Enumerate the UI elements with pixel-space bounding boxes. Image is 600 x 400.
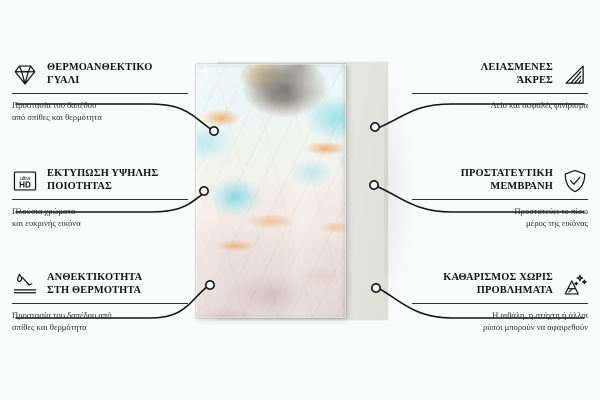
feature-title: ΚΑΘΑΡΙΣΜΟΣ ΧΩΡΙΣ ΠΡΟΒΛΗΜΑΤΑ xyxy=(412,272,553,298)
svg-text:HD: HD xyxy=(19,181,31,190)
feature-title: ΘΕΡΜΟΑΝΘΕΚΤΙΚΟ ΓΥΑΛΙ xyxy=(47,62,188,88)
divider xyxy=(412,303,588,304)
feature-title: ΛΕΙΑΣΜΕΝΕΣ ΆΚΡΕΣ xyxy=(412,62,553,88)
shield-check-icon xyxy=(562,168,588,194)
infographic-canvas: ΘΕΡΜΟΑΝΘΕΚΤΙΚΟ ΓΥΑΛΙ Προστασία του δαπέδ… xyxy=(0,0,600,400)
divider xyxy=(12,303,188,304)
feature-title: ΑΝΘΕΚΤΙΚΟΤΗΤΑ ΣΤΗ ΘΕΡΜΟΤΗΤΑ xyxy=(47,272,188,298)
feature-high-quality-print: ultra HD ΕΚΤΥΠΩΣΗ ΥΨΗΛΗΣ ΠΟΙΟΤΗΤΑΣ Πλούσ… xyxy=(12,168,188,230)
feature-description: Λείο και ασφαλές φινίρισμα xyxy=(412,99,588,111)
feature-description: Προστασία του δαπέδου από σπίθες και θερ… xyxy=(12,99,188,124)
feature-description: Προστασία του δαπέδου από σπίθες και θερ… xyxy=(12,309,188,334)
divider xyxy=(412,199,588,200)
product-glass-panel xyxy=(196,64,346,318)
feature-description: Η αιθάλη, η στάχτη ή άλλοι ρύποι μπορούν… xyxy=(412,309,588,334)
feature-title: ΕΚΤΥΠΩΣΗ ΥΨΗΛΗΣ ΠΟΙΟΤΗΤΑΣ xyxy=(47,168,188,194)
ultra-hd-icon: ultra HD xyxy=(12,168,38,194)
polished-edges-icon xyxy=(562,62,588,88)
diamond-icon xyxy=(12,62,38,88)
feature-polished-edges: ΛΕΙΑΣΜΕΝΕΣ ΆΚΡΕΣ Λείο και ασφαλές φινίρι… xyxy=(412,62,588,111)
divider xyxy=(12,93,188,94)
feature-heat-resistant-glass: ΘΕΡΜΟΑΝΘΕΚΤΙΚΟ ΓΥΑΛΙ Προστασία του δαπέδ… xyxy=(12,62,188,124)
feature-description: Πλούσια χρώματα και ευκρινής εικόνα xyxy=(12,205,188,230)
feature-protective-membrane: ΠΡΟΣΤΑΤΕΥΤΙΚΗ ΜΕΜΒΡΑΝΗ Προστατεύει το πί… xyxy=(412,168,588,230)
heat-resistance-icon xyxy=(12,272,38,298)
panel-artwork xyxy=(196,64,346,318)
product-image-group xyxy=(196,64,396,326)
easy-cleaning-icon xyxy=(562,272,588,298)
feature-easy-cleaning: ΚΑΘΑΡΙΣΜΟΣ ΧΩΡΙΣ ΠΡΟΒΛΗΜΑΤΑ Η αιθάλη, η … xyxy=(412,272,588,334)
feature-description: Προστατεύει το πίσω μέρος της εικόνας xyxy=(412,205,588,230)
divider xyxy=(412,93,588,94)
feature-heat-resistance: ΑΝΘΕΚΤΙΚΟΤΗΤΑ ΣΤΗ ΘΕΡΜΟΤΗΤΑ Προστασία το… xyxy=(12,272,188,334)
feature-title: ΠΡΟΣΤΑΤΕΥΤΙΚΗ ΜΕΜΒΡΑΝΗ xyxy=(412,168,553,194)
divider xyxy=(12,199,188,200)
